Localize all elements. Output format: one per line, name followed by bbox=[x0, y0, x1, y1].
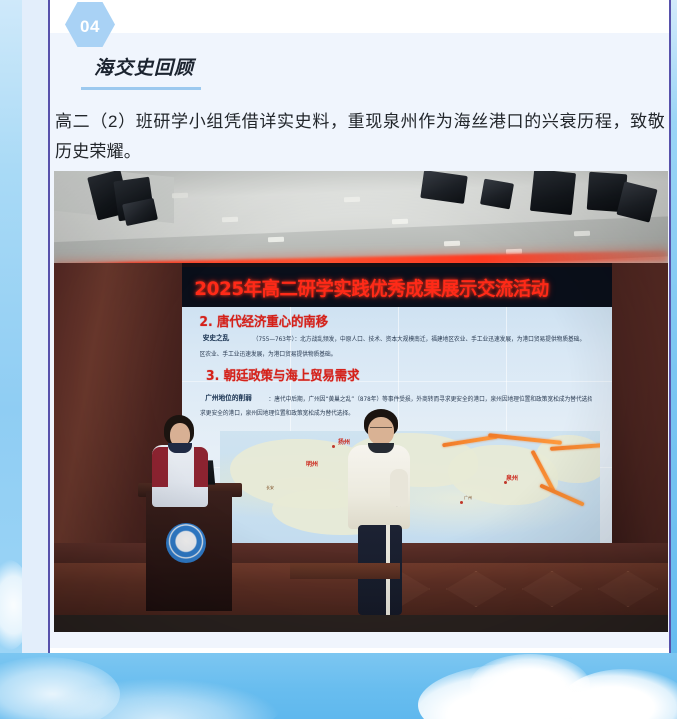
screen-banner-text: 2025年高二研学实践优秀成果展示交流活动 bbox=[194, 274, 601, 301]
presentation-photo: 2025年高二研学实践优秀成果展示交流活动 2. 唐代经济重心的南移 安史之乱 … bbox=[54, 171, 668, 632]
slide-heading-3: 3. 朝廷政策与海上贸易需求 bbox=[206, 365, 359, 384]
student-presenter-microphone bbox=[342, 409, 418, 615]
card-top-white-band bbox=[50, 0, 669, 33]
page-root: 04 海交史回顾 高二（2）班研学小组凭借详实史料，重现泉州作为海丝港口的兴衰历… bbox=[0, 0, 677, 719]
ceiling-downlight-icon bbox=[268, 237, 284, 243]
student-jacket-stripe bbox=[194, 447, 208, 487]
map-region-label: 长安 bbox=[266, 485, 274, 491]
slide-point-3-text-wrap: 求更安全的港口，泉州因地理位置和政策宽松成为替代选择。 bbox=[200, 408, 354, 417]
ceiling-speaker-icon bbox=[530, 171, 576, 215]
slide-point-2-label: 安史之乱 bbox=[203, 333, 230, 343]
ceiling-downlight-icon bbox=[392, 219, 408, 225]
slide-point-2-text-wrap: 区农业、手工业迅速发展，为港口贸易提供物质基础。 bbox=[200, 349, 337, 358]
sky-gradient-bottom bbox=[0, 653, 677, 719]
sky-gradient-left bbox=[0, 0, 22, 681]
student-glasses-icon bbox=[370, 427, 392, 432]
map-region-label: 广州 bbox=[464, 495, 472, 501]
panel-ornament bbox=[598, 571, 658, 607]
ceiling-downlight-icon bbox=[222, 217, 238, 223]
article-card: 04 海交史回顾 高二（2）班研学小组凭借详实史料，重现泉州作为海丝港口的兴衰历… bbox=[48, 0, 671, 676]
map-city-dot bbox=[460, 501, 463, 504]
map-city-label: 泉州 bbox=[506, 473, 518, 482]
student-presenter-podium bbox=[150, 415, 210, 525]
slide-heading-2: 2. 唐代经济重心的南移 bbox=[199, 311, 328, 330]
article-card-outer: 04 海交史回顾 高二（2）班研学小组凭借详实史料，重现泉州作为海丝港口的兴衰历… bbox=[22, 0, 651, 677]
ceiling-downlight-icon bbox=[444, 241, 460, 247]
map-city-dot bbox=[504, 481, 507, 484]
slide-point-2-text: （755—763年）：北方战乱频发，中原人口、技术、资本大规模南迁，福建地区农业… bbox=[253, 334, 585, 343]
screen-banner: 2025年高二研学实践优秀成果展示交流活动 bbox=[182, 267, 612, 311]
ceiling-downlight-icon bbox=[344, 197, 360, 203]
slide-point-3-label: 广州地位的削弱 bbox=[205, 393, 252, 403]
panel-ornament bbox=[446, 571, 506, 607]
section-title-block: 海交史回顾 bbox=[94, 58, 201, 90]
ceiling-downlight-icon bbox=[574, 231, 590, 237]
stage-table bbox=[290, 563, 400, 579]
map-city-dot bbox=[332, 445, 335, 448]
student-jacket-stripe bbox=[152, 447, 168, 487]
stage-light-icon bbox=[480, 179, 514, 210]
section-title: 海交史回顾 bbox=[94, 58, 201, 81]
section-number-label: 04 bbox=[80, 14, 100, 35]
panel-ornament bbox=[522, 571, 582, 607]
map-city-label: 明州 bbox=[306, 459, 318, 468]
wall-wood-right bbox=[612, 263, 668, 563]
school-emblem-icon bbox=[166, 523, 206, 563]
section-paragraph: 高二（2）班研学小组凭借详实史料，重现泉州作为海丝港口的兴衰历程，致敬历史荣耀。 bbox=[51, 107, 669, 167]
student-collar bbox=[168, 443, 192, 453]
ceiling-downlight-icon bbox=[172, 193, 188, 199]
slide-point-3-text: ：唐代中后期，广州因“黄巢之乱”（878年）等事件受损，外商转而寻求更安全的港口… bbox=[269, 394, 592, 403]
student-arm bbox=[390, 469, 408, 507]
section-title-underline bbox=[81, 87, 201, 90]
map-trade-route bbox=[488, 433, 562, 445]
